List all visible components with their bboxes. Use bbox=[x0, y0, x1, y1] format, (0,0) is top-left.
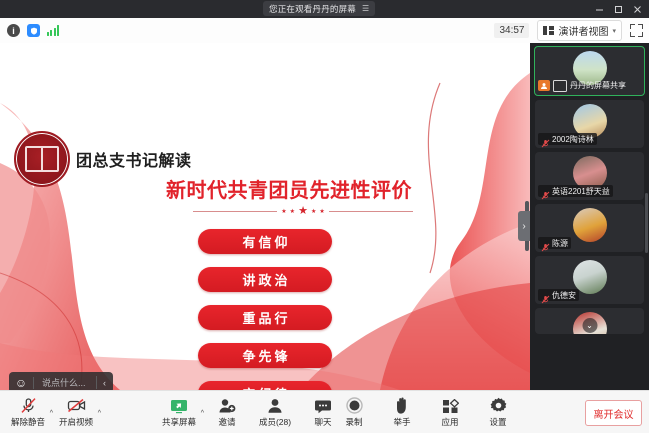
unmute-label: 解除静音 bbox=[11, 416, 45, 428]
microphone-muted-icon bbox=[20, 397, 37, 414]
chevron-up-icon[interactable]: ^ bbox=[98, 410, 101, 417]
chevron-down-icon[interactable]: ▾ bbox=[612, 27, 616, 35]
leave-meeting-label: 离开会议 bbox=[594, 406, 634, 421]
toolbar-right-group: 录制 举手 应用 设置 bbox=[330, 391, 522, 433]
participant-panel[interactable]: 丹丹的屏幕共享 2002陶诗林 英语2201舒天益 bbox=[530, 43, 649, 390]
title-bar: 您正在观看丹丹的屏幕 ☰ bbox=[0, 0, 649, 18]
camera-off-icon bbox=[67, 397, 86, 414]
participant-tile[interactable]: 陈源 bbox=[535, 204, 644, 252]
monitor-icon bbox=[553, 80, 567, 92]
meeting-timer: 34:57 bbox=[494, 23, 529, 38]
leave-meeting-button[interactable]: 离开会议 bbox=[585, 400, 642, 426]
chat-input[interactable]: 说点什么... bbox=[34, 376, 96, 389]
participant-name: 仇德安 bbox=[552, 290, 576, 301]
share-screen-button[interactable]: 共享屏幕 ^ bbox=[155, 391, 203, 433]
participant-tile-screen-share[interactable]: 丹丹的屏幕共享 bbox=[534, 46, 645, 96]
record-icon bbox=[346, 397, 363, 414]
panel-scrollbar[interactable] bbox=[645, 193, 648, 253]
zoom-meeting-window: 您正在观看丹丹的屏幕 ☰ i 34:57 bbox=[0, 0, 649, 433]
list-item: 争先锋 bbox=[198, 343, 332, 368]
participant-name: 英语2201舒天益 bbox=[552, 186, 610, 197]
status-icons: i bbox=[7, 18, 59, 43]
participants-label: 成员(28) bbox=[259, 416, 291, 428]
microphone-muted-icon bbox=[541, 239, 550, 248]
list-item: 重品行 bbox=[198, 305, 332, 330]
apps-icon bbox=[442, 397, 459, 414]
participant-name: 丹丹的屏幕共享 bbox=[570, 80, 626, 91]
apps-button[interactable]: 应用 bbox=[426, 391, 474, 433]
view-selector-label: 演讲者视图 bbox=[558, 23, 608, 38]
participants-button[interactable]: 成员(28) bbox=[251, 391, 299, 433]
invite-label: 邀请 bbox=[218, 416, 235, 428]
viewing-screen-text: 您正在观看丹丹的屏幕 bbox=[269, 3, 356, 15]
slide-kicker: 团总支书记解读 bbox=[76, 147, 192, 171]
apps-label: 应用 bbox=[441, 416, 458, 428]
name-tag: 陈源 bbox=[538, 237, 571, 249]
share-screen-icon bbox=[170, 397, 188, 414]
settings-label: 设置 bbox=[489, 416, 506, 428]
meeting-chat-overlay[interactable]: ☺ 说点什么... ‹ bbox=[9, 372, 113, 390]
screen-share-icon bbox=[538, 80, 550, 91]
microphone-muted-icon bbox=[541, 187, 550, 196]
participant-tile[interactable]: 英语2201舒天益 bbox=[535, 152, 644, 200]
participant-tile[interactable]: 仇德安 bbox=[535, 256, 644, 304]
signal-bars-icon[interactable] bbox=[47, 25, 59, 36]
shared-screen-stage[interactable]: 团总支书记解读 新时代共青团员先进性评价 ★★★★★ 有信仰 讲政治 重品行 争… bbox=[0, 43, 530, 390]
chevron-down-icon[interactable]: ⌄ bbox=[582, 318, 597, 333]
record-button[interactable]: 录制 bbox=[330, 391, 378, 433]
share-name-tag: 丹丹的屏幕共享 bbox=[538, 79, 626, 92]
settings-gear-icon bbox=[490, 397, 507, 414]
raise-hand-icon bbox=[394, 397, 410, 414]
shield-icon[interactable] bbox=[27, 24, 40, 37]
start-video-label: 开启视频 bbox=[59, 416, 93, 428]
presentation-slide: 团总支书记解读 新时代共青团员先进性评价 ★★★★★ 有信仰 讲政治 重品行 争… bbox=[0, 43, 530, 390]
list-menu-icon[interactable]: ☰ bbox=[362, 5, 369, 13]
microphone-muted-icon bbox=[541, 135, 550, 144]
chat-label: 聊天 bbox=[314, 416, 331, 428]
participant-name: 2002陶诗林 bbox=[552, 134, 594, 145]
viewing-screen-tooltip: 您正在观看丹丹的屏幕 ☰ bbox=[263, 1, 375, 16]
university-emblem bbox=[14, 131, 70, 187]
view-controls: 34:57 演讲者视图 ▾ bbox=[494, 18, 643, 43]
invite-user-icon bbox=[218, 397, 236, 414]
emoji-icon[interactable]: ☺ bbox=[9, 376, 33, 390]
participant-tile[interactable]: ⌄ bbox=[535, 308, 644, 334]
minimize-icon[interactable] bbox=[590, 0, 609, 18]
unmute-button[interactable]: 解除静音 ^ bbox=[4, 391, 52, 433]
panel-collapse-handle[interactable]: › bbox=[518, 211, 530, 241]
divider-line-right bbox=[329, 211, 413, 212]
view-selector[interactable]: 演讲者视图 ▾ bbox=[537, 20, 622, 41]
raise-hand-label: 举手 bbox=[393, 416, 410, 428]
share-screen-label: 共享屏幕 bbox=[162, 416, 196, 428]
slide-title: 新时代共青团员先进性评价 bbox=[166, 174, 412, 203]
participants-icon bbox=[266, 397, 284, 414]
name-tag: 2002陶诗林 bbox=[538, 133, 597, 145]
avatar bbox=[573, 208, 607, 242]
name-tag: 仇德安 bbox=[538, 289, 579, 301]
settings-button[interactable]: 设置 bbox=[474, 391, 522, 433]
raise-hand-button[interactable]: 举手 bbox=[378, 391, 426, 433]
fullscreen-icon[interactable] bbox=[630, 24, 643, 37]
meeting-toolbar: 解除静音 ^ 开启视频 ^ 共享屏幕 ^ bbox=[0, 390, 649, 433]
chat-collapse-icon[interactable]: ‹ bbox=[96, 376, 113, 389]
maximize-icon[interactable] bbox=[609, 0, 628, 18]
divider-stars: ★★★★★ bbox=[281, 206, 324, 217]
participant-name: 陈源 bbox=[552, 238, 568, 249]
record-label: 录制 bbox=[345, 416, 362, 428]
divider-line-left bbox=[193, 211, 277, 212]
start-video-button[interactable]: 开启视频 ^ bbox=[52, 391, 100, 433]
info-icon[interactable]: i bbox=[7, 24, 20, 37]
avatar-image bbox=[573, 208, 607, 242]
invite-button[interactable]: 邀请 bbox=[203, 391, 251, 433]
close-icon[interactable] bbox=[628, 0, 647, 18]
list-item: 有信仰 bbox=[198, 229, 332, 254]
name-tag: 英语2201舒天益 bbox=[538, 185, 613, 197]
slide-pill-list: 有信仰 讲政治 重品行 争先锋 守纪律 bbox=[0, 229, 530, 390]
title-divider: ★★★★★ bbox=[193, 206, 413, 217]
meeting-info-bar: i 34:57 演讲者视图 ▾ bbox=[0, 18, 649, 44]
microphone-muted-icon bbox=[541, 291, 550, 300]
list-item: 讲政治 bbox=[198, 267, 332, 292]
emblem-inner-mark bbox=[25, 146, 59, 172]
toolbar-left-group: 解除静音 ^ 开启视频 ^ bbox=[4, 391, 100, 433]
speaker-view-icon bbox=[543, 26, 554, 35]
participant-tile[interactable]: 2002陶诗林 bbox=[535, 100, 644, 148]
toolbar-center-group: 共享屏幕 ^ 邀请 成员(28) 聊天 bbox=[155, 391, 347, 433]
list-item: 守纪律 bbox=[198, 381, 332, 390]
